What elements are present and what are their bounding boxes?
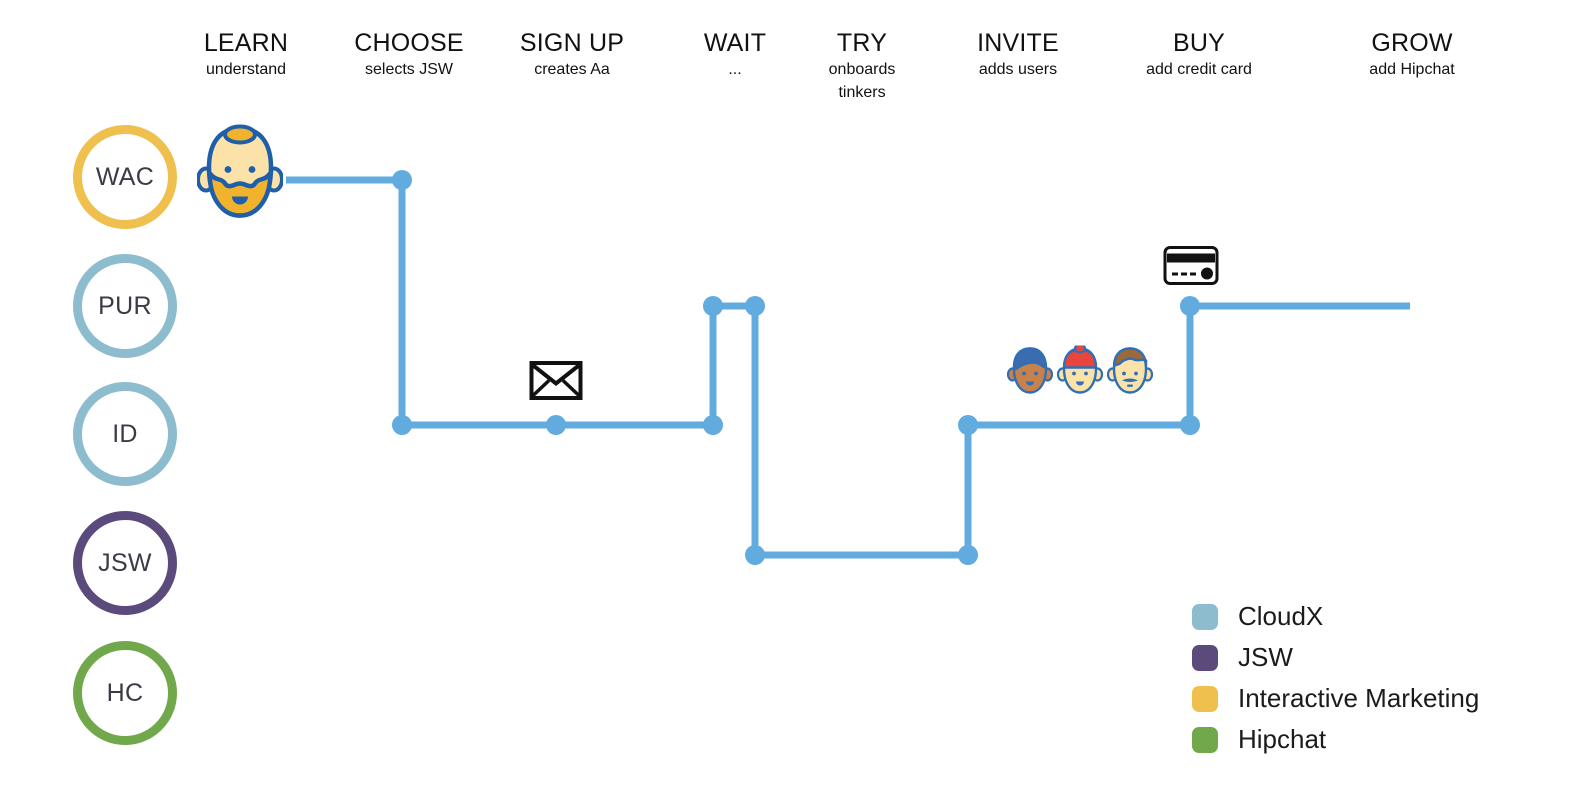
legend-label: Hipchat (1238, 724, 1326, 755)
node-buy-pur[interactable] (1180, 296, 1200, 316)
stage-subtitle: ... (704, 58, 766, 81)
node-buy-id[interactable] (1180, 415, 1200, 435)
row-circle-wac[interactable]: WAC (73, 125, 177, 229)
stage-header-try[interactable]: TRYonboardstinkers (829, 28, 896, 104)
legend-item[interactable]: Hipchat (1192, 719, 1522, 760)
stage-subtitle: creates Aa (520, 58, 624, 81)
node-wait-pur-b[interactable] (745, 296, 765, 316)
legend-color-swatch (1192, 645, 1218, 671)
stage-header-invite[interactable]: INVITEadds users (977, 28, 1059, 81)
legend-color-swatch (1192, 686, 1218, 712)
stage-subtitle: onboards (829, 58, 896, 81)
legend-label: JSW (1238, 642, 1293, 673)
legend-color-swatch (1192, 727, 1218, 753)
stage-subtitle: understand (204, 58, 288, 81)
stage-title: SIGN UP (520, 28, 624, 58)
node-signup-id[interactable] (546, 415, 566, 435)
node-invite-jsw[interactable] (958, 545, 978, 565)
row-circle-label: WAC (96, 163, 154, 192)
stage-subtitle: add credit card (1146, 58, 1252, 81)
legend-item[interactable]: JSW (1192, 637, 1522, 678)
row-circle-label: HC (107, 679, 144, 708)
row-circle-label: JSW (98, 549, 152, 578)
row-circle-jsw[interactable]: JSW (73, 511, 177, 615)
stage-subtitle: add Hipchat (1369, 58, 1454, 81)
row-circle-pur[interactable]: PUR (73, 254, 177, 358)
node-invite-id[interactable] (958, 415, 978, 435)
legend-label: Interactive Marketing (1238, 683, 1479, 714)
customer-journey-map: LEARNunderstandCHOOSEselects JSWSIGN UPc… (0, 0, 1586, 792)
legend-item[interactable]: CloudX (1192, 596, 1522, 637)
legend-label: CloudX (1238, 601, 1323, 632)
row-circle-id[interactable]: ID (73, 382, 177, 486)
journey-polyline (286, 180, 1410, 555)
legend-color-swatch (1192, 604, 1218, 630)
envelope-icon (529, 361, 583, 406)
stage-title: CHOOSE (354, 28, 464, 58)
stage-header-signup[interactable]: SIGN UPcreates Aa (520, 28, 624, 81)
stage-header-wait[interactable]: WAIT... (704, 28, 766, 81)
stage-subtitle: selects JSW (354, 58, 464, 81)
stage-header-buy[interactable]: BUYadd credit card (1146, 28, 1252, 81)
row-circle-label: PUR (98, 292, 152, 321)
node-choose-learn[interactable] (392, 170, 412, 190)
stage-header-grow[interactable]: GROWadd Hipchat (1369, 28, 1454, 81)
avatar-blue-hair-icon (1007, 346, 1053, 401)
row-circle-hc[interactable]: HC (73, 641, 177, 745)
credit-card-icon (1163, 246, 1219, 291)
node-wait-id[interactable] (703, 415, 723, 435)
stage-title: LEARN (204, 28, 288, 58)
bearded-persona-face-icon (197, 124, 283, 229)
legend: CloudXJSWInteractive MarketingHipchat (1192, 596, 1522, 760)
avatar-red-beanie-icon (1057, 346, 1103, 401)
node-wait-pur-a[interactable] (703, 296, 723, 316)
stage-title: TRY (829, 28, 896, 58)
stage-subtitle-line2: tinkers (829, 81, 896, 104)
node-choose-id[interactable] (392, 415, 412, 435)
stage-header-choose[interactable]: CHOOSEselects JSW (354, 28, 464, 81)
stage-title: WAIT (704, 28, 766, 58)
row-circle-label: ID (112, 420, 138, 449)
avatar-mustache-icon (1107, 346, 1153, 401)
stage-subtitle: adds users (977, 58, 1059, 81)
legend-item[interactable]: Interactive Marketing (1192, 678, 1522, 719)
stage-title: INVITE (977, 28, 1059, 58)
stage-header-learn[interactable]: LEARNunderstand (204, 28, 288, 81)
node-try-jsw[interactable] (745, 545, 765, 565)
stage-title: GROW (1369, 28, 1454, 58)
stage-title: BUY (1146, 28, 1252, 58)
